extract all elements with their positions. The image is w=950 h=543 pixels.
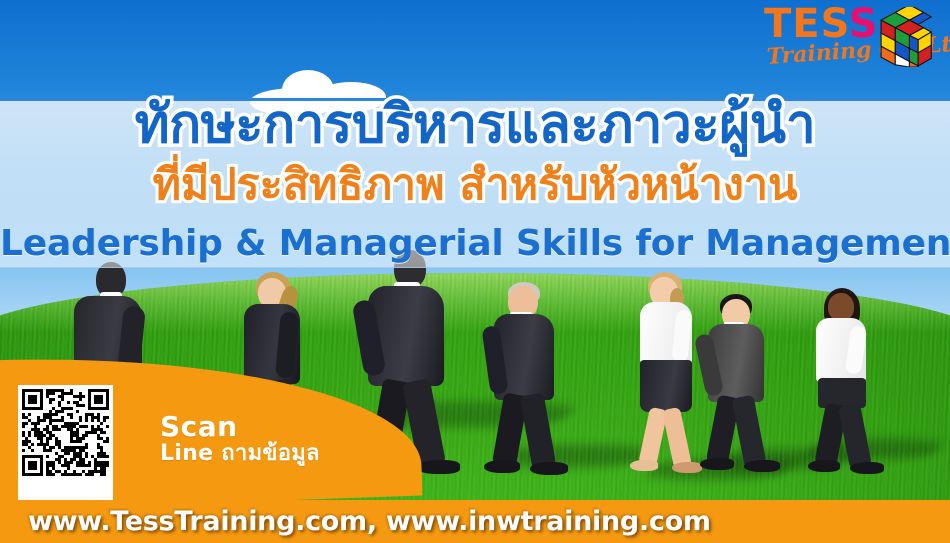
- scan-label-line2: Line ถามข้อมูล: [160, 443, 320, 465]
- person-7: [806, 288, 888, 480]
- headline-thai-line1: ทักษะการบริหารและภาวะผู้นำ: [0, 97, 950, 153]
- promotional-poster: ทักษะการบริหารและภาวะผู้นำ ที่มีประสิทธิ…: [0, 0, 950, 543]
- footer-urls[interactable]: www.TessTraining.com, www.inwtraining.co…: [28, 506, 711, 537]
- footer-bar: www.TessTraining.com, www.inwtraining.co…: [0, 500, 950, 543]
- headline-thai-line2: ที่มีประสิทธิภาพ สำหรับหัวหน้างาน: [0, 163, 950, 208]
- tess-logo[interactable]: TESS Training Co.,Ltd.: [764, 4, 932, 78]
- scan-label-line1: Scan: [160, 413, 320, 442]
- person-5: [630, 272, 710, 478]
- qr-code[interactable]: [18, 385, 113, 500]
- person-6: [700, 294, 780, 482]
- rubiks-cube-icon: [876, 7, 932, 67]
- headline-english: Leadership & Managerial Skills for Manag…: [0, 225, 950, 263]
- scan-callout: Scan Line ถามข้อมูล: [160, 413, 320, 465]
- person-4: [484, 282, 570, 478]
